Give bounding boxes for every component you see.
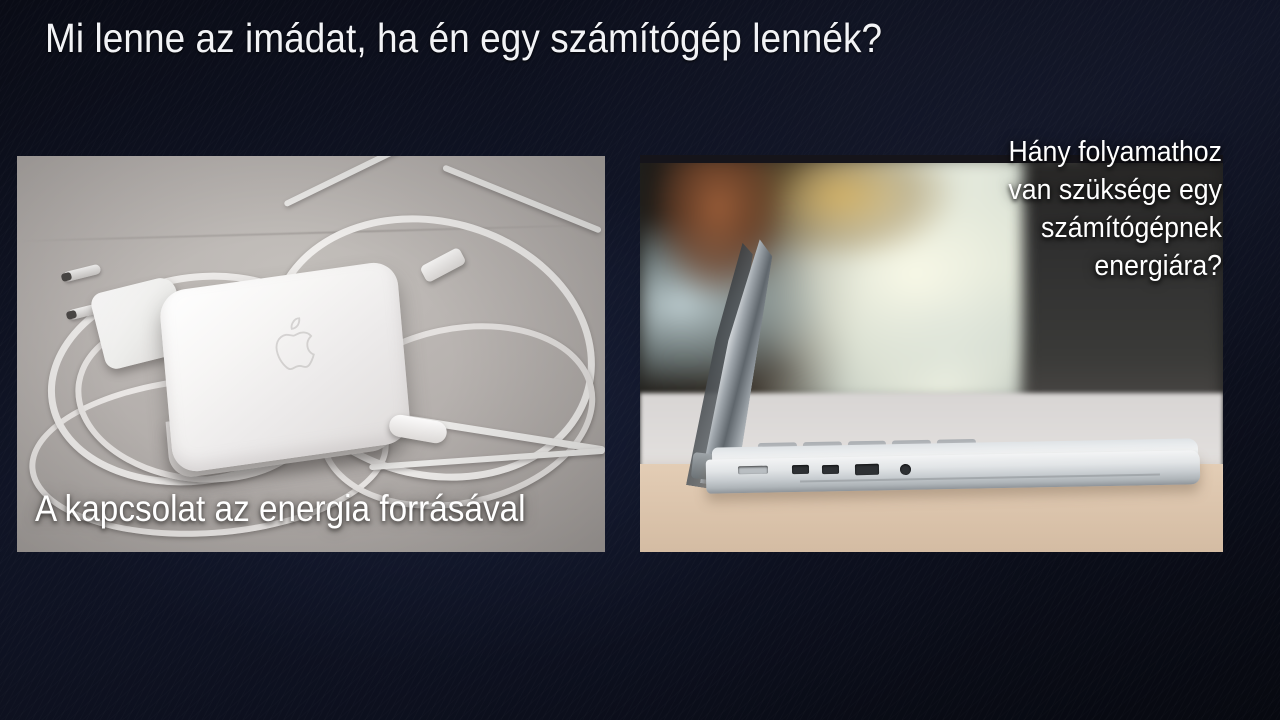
slide-canvas: Mi lenne az imádat, ha én egy számítógép… bbox=[0, 0, 1280, 720]
thunderbolt-port bbox=[822, 465, 839, 474]
magsafe-port bbox=[738, 466, 768, 475]
usb-port bbox=[855, 464, 879, 475]
left-image-caption: A kapcsolat az energia forrásával bbox=[35, 488, 526, 530]
right-image-caption: Hány folyamathoz van szüksége egy számít… bbox=[836, 133, 1222, 285]
left-image-power-adapter: A kapcsolat az energia forrásával bbox=[17, 156, 605, 552]
thunderbolt-port bbox=[792, 465, 809, 474]
slide-title: Mi lenne az imádat, ha én egy számítógép… bbox=[45, 16, 1035, 62]
